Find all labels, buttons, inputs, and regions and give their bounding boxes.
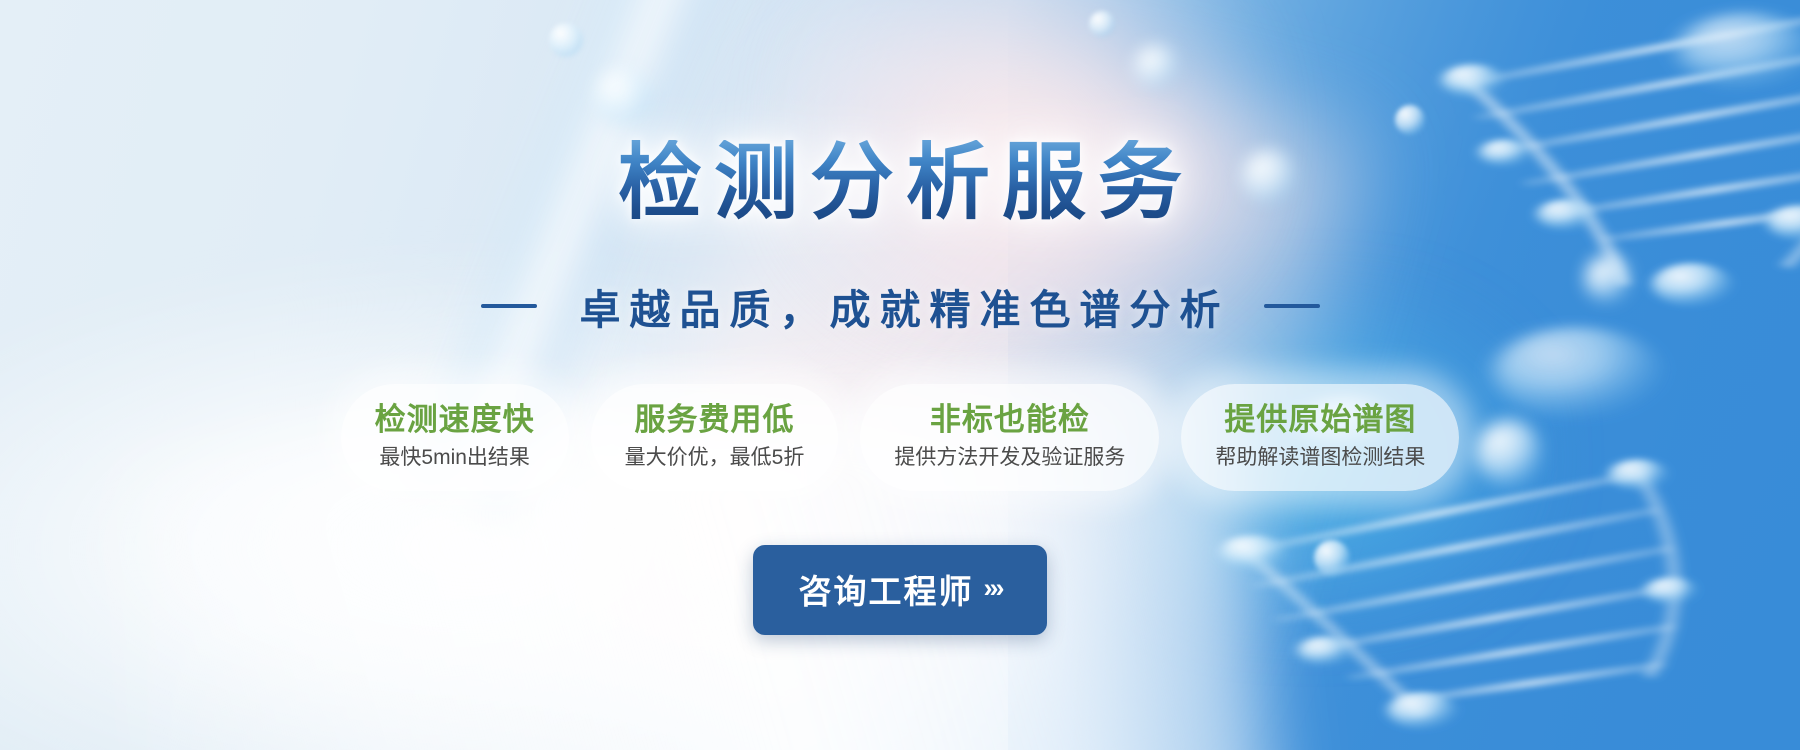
chevron-right-triple-icon: ›››	[984, 573, 1002, 604]
page-subtitle: 卓越品质，成就精准色谱分析	[571, 276, 1230, 336]
dash-left-decoration	[481, 304, 537, 308]
feature-pill-price[interactable]: 服务费用低 量大价优，最低5折	[591, 384, 839, 491]
page-title: 检测分析服务	[606, 140, 1194, 224]
feature-pill-subtitle: 量大价优，最低5折	[625, 445, 805, 471]
feature-pill-title: 检测速度快	[375, 402, 535, 439]
feature-pill-list: 检测速度快 最快5min出结果 服务费用低 量大价优，最低5折 非标也能检 提供…	[341, 384, 1460, 491]
feature-pill-speed[interactable]: 检测速度快 最快5min出结果	[341, 384, 569, 491]
feature-pill-nonstandard[interactable]: 非标也能检 提供方法开发及验证服务	[860, 384, 1159, 491]
consult-engineer-button[interactable]: 咨询工程师 ›››	[753, 545, 1048, 635]
feature-pill-subtitle: 最快5min出结果	[375, 445, 535, 471]
dash-right-decoration	[1264, 304, 1320, 308]
feature-pill-subtitle: 提供方法开发及验证服务	[894, 445, 1125, 471]
feature-pill-subtitle: 帮助解读谱图检测结果	[1215, 445, 1425, 471]
cta-label: 咨询工程师	[799, 565, 974, 613]
feature-pill-raw-spectra[interactable]: 提供原始谱图 帮助解读谱图检测结果	[1181, 384, 1459, 491]
feature-pill-title: 提供原始谱图	[1215, 402, 1425, 439]
subtitle-row: 卓越品质，成就精准色谱分析	[481, 276, 1320, 336]
feature-pill-title: 服务费用低	[625, 402, 805, 439]
feature-pill-title: 非标也能检	[894, 402, 1125, 439]
banner-content: 检测分析服务 卓越品质，成就精准色谱分析 检测速度快 最快5min出结果 服务费…	[0, 0, 1800, 750]
cta-container: 咨询工程师 ›››	[753, 545, 1048, 635]
detection-analysis-service-banner: 检测分析服务 卓越品质，成就精准色谱分析 检测速度快 最快5min出结果 服务费…	[0, 0, 1800, 750]
